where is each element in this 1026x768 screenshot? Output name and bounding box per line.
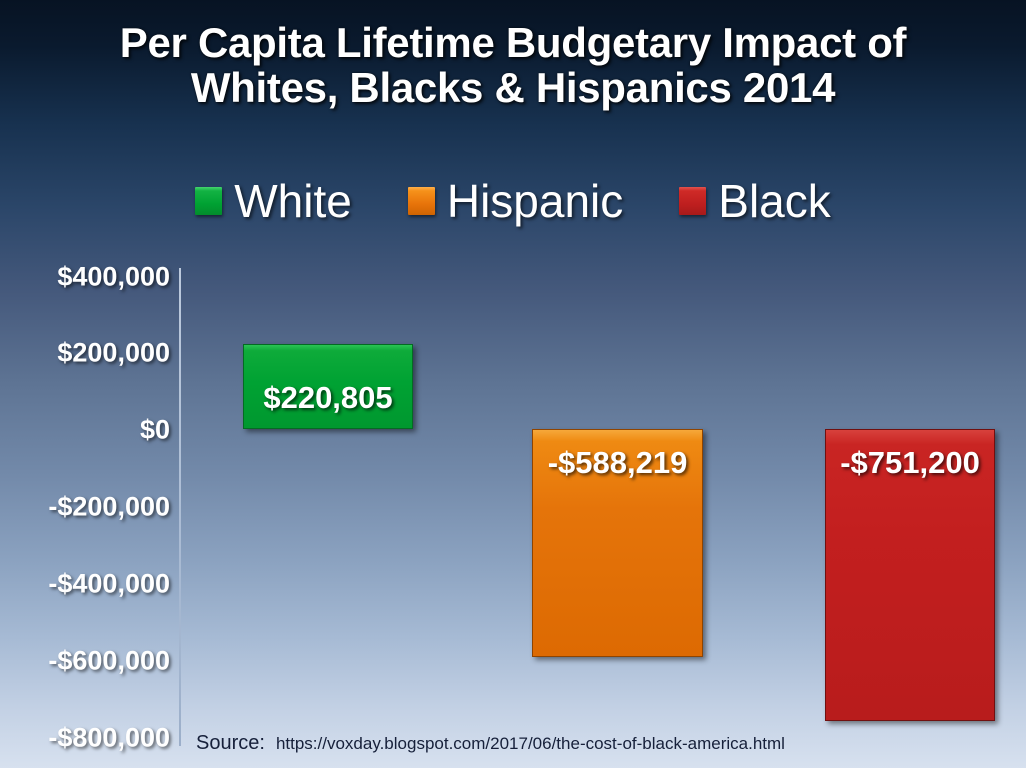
- y-axis-tick-400000: $400,000: [57, 262, 170, 293]
- y-axis-tick-n200000: -$200,000: [48, 492, 170, 523]
- y-axis-tick-n800000: -$800,000: [48, 723, 170, 754]
- chart-slide: Per Capita Lifetime Budgetary Impact of …: [0, 0, 1026, 768]
- bar-white-value: $220,805: [243, 380, 413, 416]
- bar-hispanic-value: -$588,219: [532, 445, 703, 481]
- bar-white[interactable]: $220,805: [243, 344, 413, 429]
- bar-hispanic[interactable]: -$588,219: [532, 429, 703, 657]
- y-axis-tick-n400000: -$400,000: [48, 569, 170, 600]
- y-axis-line: [179, 268, 181, 746]
- source-url[interactable]: https://voxday.blogspot.com/2017/06/the-…: [276, 734, 785, 753]
- y-axis-tick-n600000: -$600,000: [48, 646, 170, 677]
- plot-area: $400,000 $200,000 $0 -$200,000 -$400,000…: [0, 0, 1026, 768]
- bar-black-value: -$751,200: [825, 445, 995, 481]
- source-note: Source: https://voxday.blogspot.com/2017…: [196, 732, 785, 755]
- y-axis-tick-200000: $200,000: [57, 338, 170, 369]
- source-label: Source:: [196, 732, 265, 754]
- bar-black[interactable]: -$751,200: [825, 429, 995, 721]
- y-axis-tick-0: $0: [140, 415, 170, 446]
